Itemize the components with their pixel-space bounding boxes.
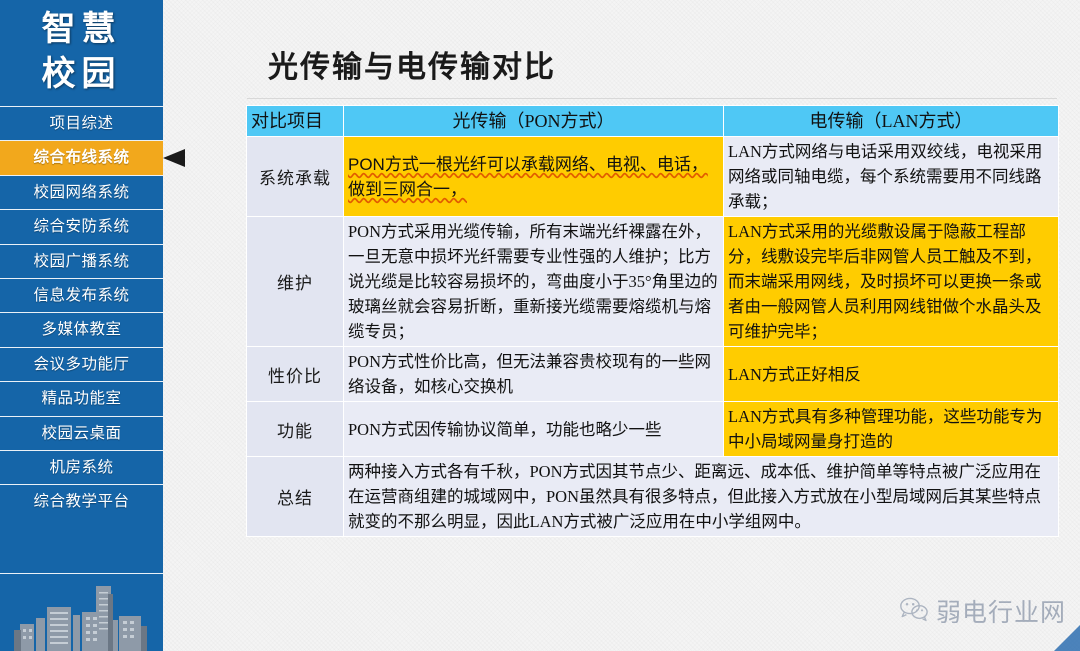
page-title: 光传输与电传输对比 — [268, 42, 556, 86]
brand-line-1: 智慧 — [0, 7, 163, 52]
sidebar-item-broadcast-system[interactable]: 校园广播系统 — [0, 244, 163, 278]
slide-canvas: 智慧 校园 项目综述 综合布线系统 校园网络系统 综合安防系统 校园广播系统 信… — [0, 0, 1080, 651]
cell-summary-text: 两种接入方式各有千秋，PON方式因其节点少、距离远、成本低、维护简单等特点被广泛… — [344, 457, 1059, 537]
sidebar-item-label: 校园云桌面 — [41, 425, 121, 442]
cell-lan-system-bearing: LAN方式网络与电话采用双绞线，电视采用网络或同轴电缆，每个系统需要用不同线路承… — [724, 137, 1059, 217]
sidebar-item-label: 机房系统 — [49, 459, 113, 476]
sidebar-item-label: 会议多功能厅 — [33, 356, 129, 373]
cell-pon-features: PON方式因传输协议简单，功能也略少一些 — [344, 402, 724, 457]
table-row: 系统承载 PON方式一根光纤可以承载网络、电视、电话，做到三网合一， LAN方式… — [247, 137, 1059, 217]
row-label-cost-performance: 性价比 — [247, 347, 344, 402]
sidebar-item-label: 校园网络系统 — [33, 184, 129, 201]
sidebar-item-project-overview[interactable]: 项目综述 — [0, 106, 163, 140]
sidebar-item-teaching-platform[interactable]: 综合教学平台 — [0, 484, 163, 518]
sidebar-item-label: 多媒体教室 — [41, 321, 121, 338]
sidebar-item-label: 综合布线系统 — [33, 149, 129, 166]
sidebar-item-info-publishing[interactable]: 信息发布系统 — [0, 278, 163, 312]
sidebar-nav: 项目综述 综合布线系统 校园网络系统 综合安防系统 校园广播系统 信息发布系统 … — [0, 106, 163, 519]
sidebar-item-label: 精品功能室 — [41, 390, 121, 407]
sidebar-item-structured-cabling[interactable]: 综合布线系统 — [0, 140, 163, 174]
table-header: 对比项目 光传输（PON方式） 电传输（LAN方式） — [247, 106, 1059, 137]
cell-lan-maintenance: LAN方式采用的光缆敷设属于隐蔽工程部分，线敷设完毕后非网管人员工触及不到，而末… — [724, 217, 1059, 347]
table-row: 维护 PON方式采用光缆传输，所有末端光纤裸露在外，一旦无意中损坏光纤需要专业性… — [247, 217, 1059, 347]
row-label-summary: 总结 — [247, 457, 344, 537]
cell-pon-maintenance: PON方式采用光缆传输，所有末端光纤裸露在外，一旦无意中损坏光纤需要专业性强的人… — [344, 217, 724, 347]
cell-lan-features: LAN方式具有多种管理功能，这些功能专为中小局域网量身打造的 — [724, 402, 1059, 457]
wechat-icon — [899, 596, 929, 627]
watermark: 弱电行业网 — [899, 593, 1066, 629]
cell-pon-cost-performance: PON方式性价比高，但无法兼容贵校现有的一些网络设备，如核心交换机 — [344, 347, 724, 402]
title-divider — [247, 98, 1057, 99]
column-header-item: 对比项目 — [247, 106, 344, 137]
table-body: 系统承载 PON方式一根光纤可以承载网络、电视、电话，做到三网合一， LAN方式… — [247, 137, 1059, 537]
active-pointer-icon — [163, 149, 185, 167]
sidebar-item-server-room[interactable]: 机房系统 — [0, 450, 163, 484]
brand-logo: 智慧 校园 — [0, 0, 163, 106]
cell-pon-system-bearing: PON方式一根光纤可以承载网络、电视、电话，做到三网合一， — [344, 137, 724, 217]
sidebar: 智慧 校园 项目综述 综合布线系统 校园网络系统 综合安防系统 校园广播系统 信… — [0, 0, 163, 651]
table-row-summary: 总结 两种接入方式各有千秋，PON方式因其节点少、距离远、成本低、维护简单等特点… — [247, 457, 1059, 537]
sidebar-item-label: 信息发布系统 — [33, 287, 129, 304]
brand-line-2: 校园 — [0, 52, 163, 97]
comparison-table: 对比项目 光传输（PON方式） 电传输（LAN方式） 系统承载 PON方式一根光… — [246, 105, 1059, 537]
sidebar-item-campus-network[interactable]: 校园网络系统 — [0, 175, 163, 209]
watermark-text: 弱电行业网 — [936, 593, 1066, 629]
sidebar-item-label: 项目综述 — [49, 115, 113, 132]
corner-decoration — [1054, 625, 1080, 651]
sidebar-item-cloud-desktop[interactable]: 校园云桌面 — [0, 416, 163, 450]
sidebar-item-conference-hall[interactable]: 会议多功能厅 — [0, 347, 163, 381]
sidebar-item-multimedia-classroom[interactable]: 多媒体教室 — [0, 312, 163, 346]
sidebar-item-label: 综合教学平台 — [33, 493, 129, 510]
table-header-row: 对比项目 光传输（PON方式） 电传输（LAN方式） — [247, 106, 1059, 137]
sidebar-item-label: 校园广播系统 — [33, 253, 129, 270]
row-label-maintenance: 维护 — [247, 217, 344, 347]
sidebar-item-label: 综合安防系统 — [33, 218, 129, 235]
row-label-features: 功能 — [247, 402, 344, 457]
city-skyline-icon — [0, 573, 163, 651]
row-label-system-bearing: 系统承载 — [247, 137, 344, 217]
sidebar-item-premium-function-room[interactable]: 精品功能室 — [0, 381, 163, 415]
cell-lan-cost-performance: LAN方式正好相反 — [724, 347, 1059, 402]
table-row: 功能 PON方式因传输协议简单，功能也略少一些 LAN方式具有多种管理功能，这些… — [247, 402, 1059, 457]
column-header-pon: 光传输（PON方式） — [344, 106, 724, 137]
sidebar-item-security-system[interactable]: 综合安防系统 — [0, 209, 163, 243]
table-row: 性价比 PON方式性价比高，但无法兼容贵校现有的一些网络设备，如核心交换机 LA… — [247, 347, 1059, 402]
column-header-lan: 电传输（LAN方式） — [724, 106, 1059, 137]
